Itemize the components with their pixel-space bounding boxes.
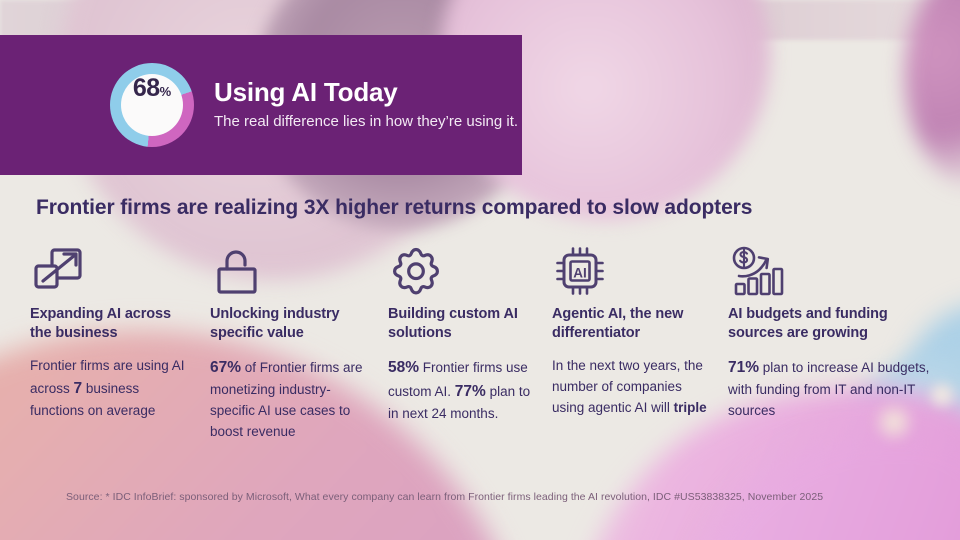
source-footnote: Source: * IDC InfoBrief: sponsored by Mi…: [66, 491, 823, 503]
stat-body: In the next two years, the number of com…: [552, 356, 714, 419]
stat-heading: AI budgets and funding sources are growi…: [728, 305, 936, 342]
stat-column-expanding-ai: Expanding AI across the business Frontie…: [30, 243, 210, 443]
ai-chip-icon: AI: [552, 243, 714, 299]
banner-title: Using AI Today: [214, 78, 518, 107]
stat-heading: Agentic AI, the new differentiator: [552, 305, 714, 342]
stat-heading: Unlocking industry specific value: [210, 305, 374, 342]
background-blob-magenta: [905, 0, 960, 190]
stat-heading: Expanding AI across the business: [30, 305, 196, 342]
stat-emphasis: 71%: [728, 359, 759, 376]
unlock-icon: [210, 243, 374, 299]
donut-center: 68%: [121, 74, 183, 136]
stat-column-unlocking-value: Unlocking industry specific value 67% of…: [210, 243, 388, 443]
stat-column-custom-solutions: Building custom AI solutions 58% Frontie…: [388, 243, 552, 443]
expand-arrow-icon: [30, 243, 196, 299]
stat-emphasis: triple: [674, 400, 707, 415]
stat-emphasis: 67%: [210, 359, 241, 376]
stat-emphasis: 77%: [455, 383, 486, 400]
money-growth-chart-icon: [728, 243, 936, 299]
stat-column-agentic-ai: AI Agentic AI, the new differentiator In…: [552, 243, 728, 443]
donut-value: 68: [133, 74, 160, 103]
banner-text-block: Using AI Today The real difference lies …: [214, 78, 518, 132]
gear-icon: [388, 243, 538, 299]
stat-emphasis: 7: [74, 380, 83, 397]
stats-columns: Expanding AI across the business Frontie…: [30, 243, 936, 443]
page-headline: Frontier firms are realizing 3X higher r…: [36, 196, 752, 220]
stat-column-ai-budgets: AI budgets and funding sources are growi…: [728, 243, 936, 443]
stat-body: 58% Frontier firms use custom AI. 77% pl…: [388, 356, 538, 425]
donut-chart: 68%: [110, 63, 194, 147]
stat-heading: Building custom AI solutions: [388, 305, 538, 342]
svg-text:AI: AI: [573, 266, 587, 281]
stat-body: 71% plan to increase AI budgets, with fu…: [728, 356, 936, 422]
background-wedge-bottom-right-2: [690, 430, 960, 540]
stat-emphasis: 58%: [388, 359, 419, 376]
header-banner: 68% Using AI Today The real difference l…: [0, 35, 522, 175]
stat-body: 67% of Frontier firms are monetizing ind…: [210, 356, 374, 443]
infographic-slide: 68% Using AI Today The real difference l…: [0, 0, 960, 540]
background-top-band: [0, 0, 960, 40]
donut-percent-symbol: %: [160, 84, 172, 99]
stat-body: Frontier firms are using AI across 7 bus…: [30, 356, 196, 422]
stat-text: plan to increase AI budgets, with fundin…: [728, 360, 929, 418]
banner-subtitle: The real difference lies in how they’re …: [214, 112, 518, 132]
